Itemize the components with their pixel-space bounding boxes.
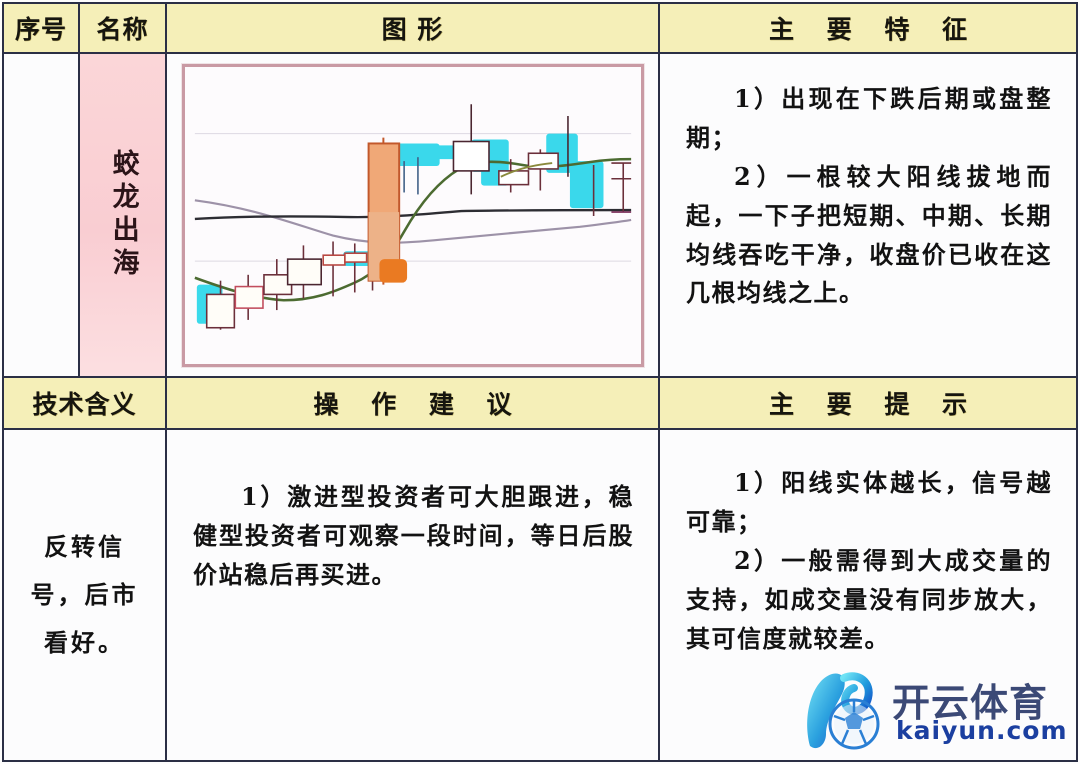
pattern-name-label: 蛟龙出海: [108, 149, 136, 281]
table-body-row-2: 反转信号，后市看好。 1）激进型投资者可大胆跟进，稳健型投资者可观察一段时间，等…: [4, 430, 1076, 760]
candle-16: [611, 163, 631, 212]
table-header-row-2: 技术含义 操 作 建 议 主 要 提 示: [4, 378, 1076, 430]
header-label-graph: 图 形: [382, 10, 444, 46]
main-tip-item-1: 1）阳线实体越长，信号越可靠；: [686, 464, 1052, 542]
cell-main-tips: 1）阳线实体越长，信号越可靠； 2）一般需得到大成交量的支持，如成交量没有同步放…: [660, 430, 1076, 760]
candle-2: [235, 274, 263, 319]
header-cell-graph: 图 形: [167, 4, 660, 52]
main-tip-item-2: 2）一般需得到大成交量的支持，如成交量没有同步放大，其可信度就较差。: [686, 542, 1052, 659]
cell-main-features: 1）出现在下跌后期或盘整期； 2）一根较大阳线拔地而起，一下子把短期、中期、长期…: [660, 54, 1076, 376]
main-feature-item-1: 1）出现在下跌后期或盘整期；: [686, 80, 1052, 158]
main-feature-item-2: 2）一根较大阳线拔地而起，一下子把短期、中期、长期均线吞吃干净，收盘价已收在这几…: [686, 158, 1052, 314]
technical-meaning-text: 反转信号，后市看好。: [4, 523, 165, 667]
page-root: 序号 名称 图 形 主 要 特 征 蛟龙出海: [0, 0, 1080, 764]
header-cell-meaning: 技术含义: [4, 378, 167, 428]
candlestick-chart-frame: [182, 64, 644, 367]
cell-sequence-number: [4, 54, 80, 376]
ma-short-line: [194, 159, 630, 300]
header-cell-feature: 主 要 特 征: [660, 4, 1076, 52]
header-label-tips: 主 要 提 示: [757, 385, 979, 421]
header-cell-seq: 序号: [4, 4, 80, 52]
operation-advice-text: 1）激进型投资者可大胆跟进，稳健型投资者可观察一段时间，等日后股价站稳后再买进。: [167, 430, 658, 760]
table-header-row-1: 序号 名称 图 形 主 要 特 征: [4, 4, 1076, 54]
cell-pattern-name: 蛟龙出海: [80, 54, 167, 376]
orange-block-marker: [379, 259, 407, 283]
main-features-text: 1）出现在下跌后期或盘整期； 2）一根较大阳线拔地而起，一下子把短期、中期、长期…: [660, 54, 1076, 376]
header-cell-advice: 操 作 建 议: [167, 378, 660, 428]
header-label-feature: 主 要 特 征: [757, 10, 979, 46]
header-label-name: 名称: [96, 10, 148, 46]
header-cell-name: 名称: [80, 4, 167, 52]
cell-technical-meaning: 反转信号，后市看好。: [4, 430, 167, 760]
chart-container: [167, 54, 658, 376]
operation-advice-item-1: 1）激进型投资者可大胆跟进，稳健型投资者可观察一段时间，等日后股价站稳后再买进。: [193, 478, 634, 595]
header-cell-tips: 主 要 提 示: [660, 378, 1076, 428]
header-label-advice: 操 作 建 议: [301, 385, 523, 421]
main-tips-text: 1）阳线实体越长，信号越可靠； 2）一般需得到大成交量的支持，如成交量没有同步放…: [660, 430, 1076, 760]
pattern-table: 序号 名称 图 形 主 要 特 征 蛟龙出海: [2, 2, 1078, 762]
cell-chart: [167, 54, 660, 376]
cell-operation-advice: 1）激进型投资者可大胆跟进，稳健型投资者可观察一段时间，等日后股价站稳后再买进。: [167, 430, 660, 760]
ma-long-line: [194, 200, 630, 242]
candle-4: [287, 245, 321, 298]
header-label-seq: 序号: [15, 10, 67, 46]
table-body-row-1: 蛟龙出海: [4, 54, 1076, 378]
candlestick-chart: [185, 67, 641, 364]
header-label-meaning: 技术含义: [32, 385, 136, 421]
